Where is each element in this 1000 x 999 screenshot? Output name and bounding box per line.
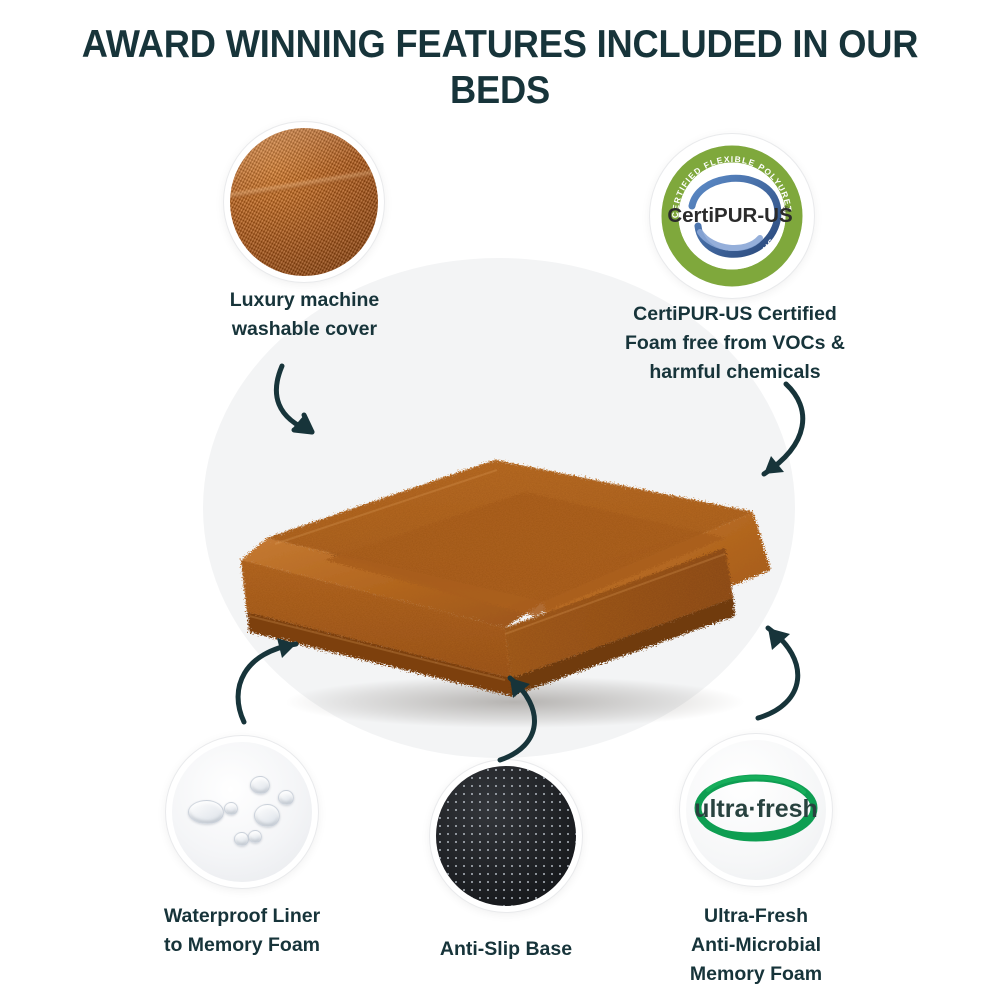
arrow-waterproof-liner (222, 618, 337, 733)
feature-caption-ultra-fresh: Ultra-Fresh Anti-Microbial Memory Foam (636, 902, 876, 989)
anti-slip-fabric-swatch (436, 766, 576, 906)
certipur-wordmark: CertiPUR-US (667, 204, 792, 227)
feature-icon-waterproof-liner[interactable] (166, 736, 318, 888)
feature-icon-anti-slip[interactable] (430, 760, 582, 912)
certipur-us-badge: CONTAINS CERTIFIED FLEXIBLE POLYURETHANE… (656, 140, 808, 292)
arrow-ultra-fresh (726, 612, 841, 732)
feature-caption-luxury-cover: Luxury machine washable cover (182, 286, 427, 344)
water-droplets-swatch (172, 742, 312, 882)
ultra-fresh-logo: ultra·fresh (686, 740, 826, 880)
page-title: AWARD WINNING FEATURES INCLUDED IN OUR B… (82, 22, 919, 114)
arrow-certipur (738, 378, 848, 488)
feature-icon-ultra-fresh[interactable]: ultra·fresh (680, 734, 832, 886)
arrow-luxury-cover (268, 360, 378, 450)
certipur-trademark: ® (783, 205, 789, 214)
feature-icon-luxury-cover[interactable] (224, 122, 384, 282)
chenille-fabric-swatch (230, 128, 378, 276)
feature-caption-waterproof-liner: Waterproof Liner to Memory Foam (122, 902, 362, 960)
infographic-canvas: AWARD WINNING FEATURES INCLUDED IN OUR B… (0, 0, 1000, 999)
feature-caption-anti-slip: Anti-Slip Base (396, 935, 616, 964)
ultra-fresh-wordmark: ultra·fresh (694, 795, 818, 823)
feature-icon-certipur[interactable]: CONTAINS CERTIFIED FLEXIBLE POLYURETHANE… (650, 134, 814, 298)
arrow-anti-slip (468, 660, 583, 775)
feature-caption-certipur: CertiPUR-US Certified Foam free from VOC… (605, 300, 865, 387)
